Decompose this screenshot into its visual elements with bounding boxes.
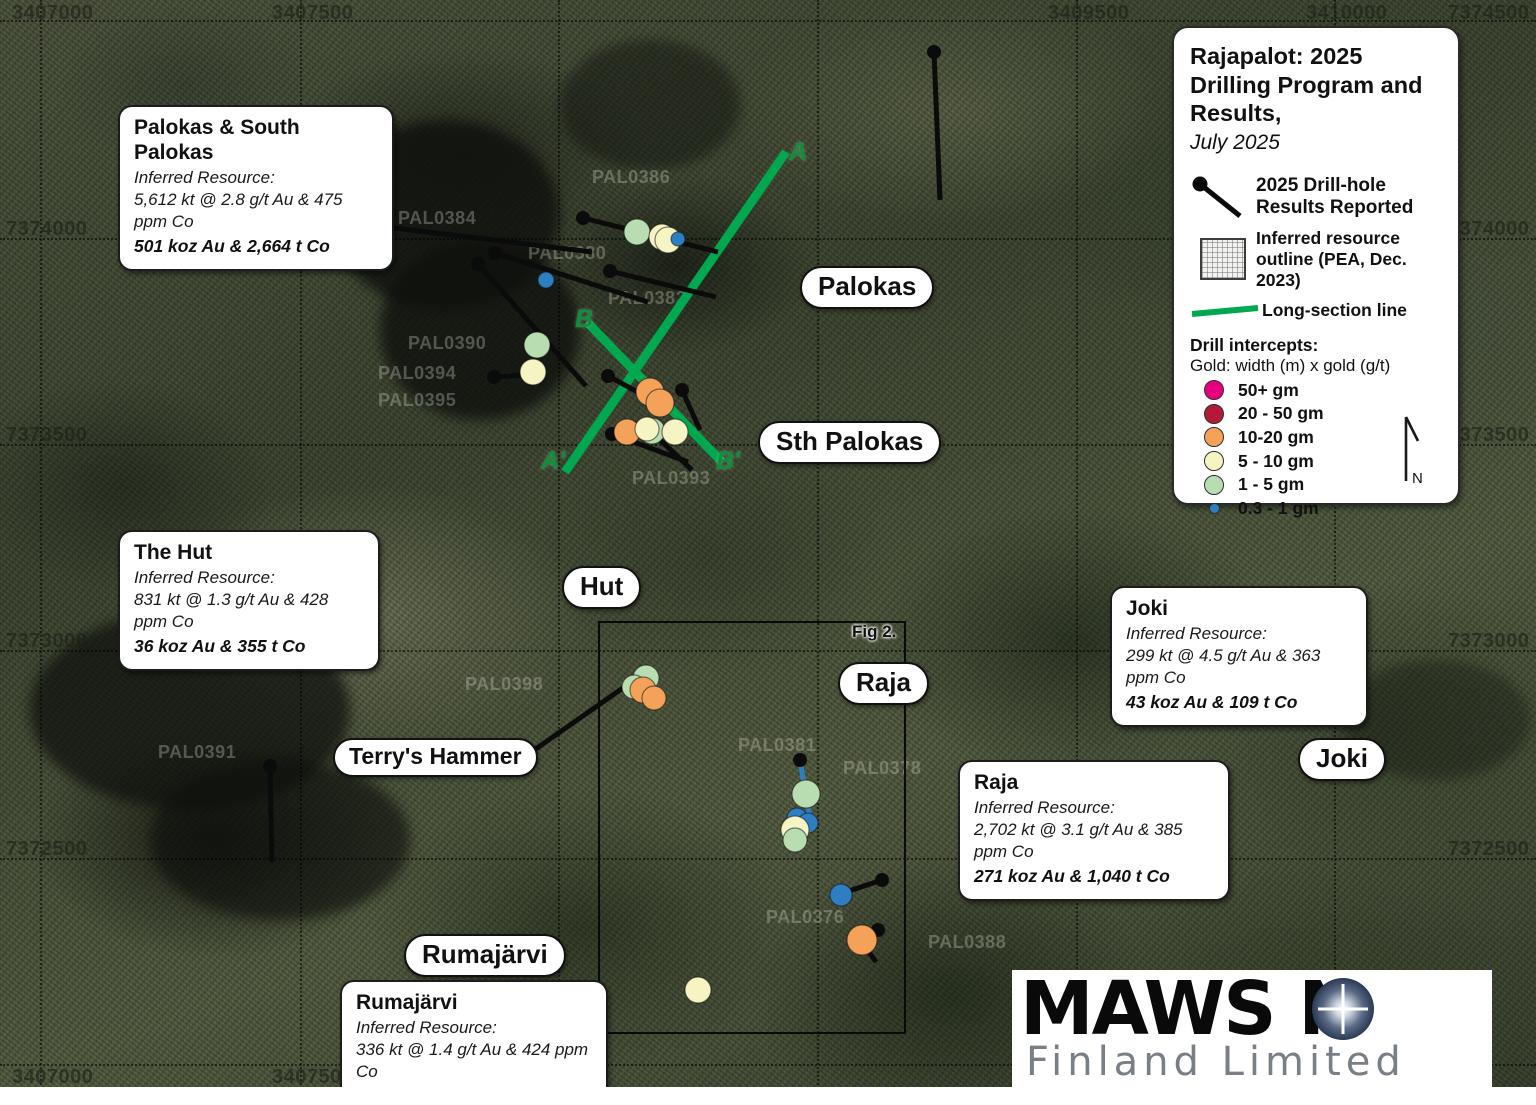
intercept-class-swatch-icon [1204, 427, 1224, 447]
legend-intercepts-heading: Drill intercepts: Gold: width (m) x gold… [1190, 335, 1442, 376]
resource-box-total: 43 koz Au & 109 t Co [1126, 691, 1352, 714]
intercept-class-label: 5 - 10 gm [1238, 451, 1314, 472]
legend-row-drillhole: 2025 Drill-hole Results Reported [1190, 174, 1442, 220]
resource-box-subtitle: Inferred Resource: [134, 567, 364, 589]
resource-box-title: Joki [1126, 597, 1352, 622]
section-label-A-prime: A' [541, 447, 565, 476]
resource-outline-swatch-icon [1190, 238, 1256, 280]
resource-box-title: Palokas & South Palokas [134, 116, 378, 166]
resource-box-grade: 831 kt @ 1.3 g/t Au & 428 ppm Co [134, 589, 364, 633]
north-arrow-label: N [1412, 470, 1423, 487]
drill-intercept-point [671, 232, 685, 246]
resource-box-grade: 5,612 kt @ 2.8 g/t Au & 475 ppm Co [134, 189, 378, 233]
resource-box-total: 271 koz Au & 1,040 t Co [974, 865, 1214, 888]
resource-box-grade: 2,702 kt @ 3.1 g/t Au & 385 ppm Co [974, 819, 1214, 863]
intercepts-subheading-text: Gold: width (m) x gold (g/t) [1190, 356, 1442, 376]
resource-box-subtitle: Inferred Resource: [356, 1017, 592, 1039]
map-label-sth-palokas: Sth Palokas [758, 421, 941, 464]
resource-box-total: 501 koz Au & 2,664 t Co [134, 235, 378, 258]
resource-box-the-hut: The Hut Inferred Resource: 831 kt @ 1.3 … [118, 530, 380, 671]
drill-intercept-point [646, 389, 674, 417]
map-label-terrys-hammer: Terry's Hammer [333, 738, 538, 777]
map-figure: 3407000 3407500 3409500 3410000 3407000 … [0, 0, 1536, 1105]
map-label-rumajarvi: Rumajärvi [404, 934, 566, 977]
legend-title: Rajapalot: 2025 Drilling Program and Res… [1190, 42, 1442, 128]
section-label-B-prime: B' [716, 447, 740, 476]
resource-box-subtitle: Inferred Resource: [974, 797, 1214, 819]
legend-long-section-label: Long-section line [1262, 300, 1407, 321]
drill-intercept-point [538, 272, 554, 288]
resource-box-total: 36 koz Au & 355 t Co [134, 635, 364, 658]
logo-subword: Finland Limited [1026, 1042, 1406, 1082]
drill-intercept-point [662, 419, 688, 445]
intercepts-heading-text: Drill intercepts: [1190, 335, 1442, 356]
fig2-label: Fig 2. [852, 622, 896, 642]
resource-box-joki: Joki Inferred Resource: 299 kt @ 4.5 g/t… [1110, 586, 1368, 727]
drill-intercept-point [635, 417, 659, 441]
intercept-class-label: 1 - 5 gm [1238, 474, 1304, 495]
resource-box-title: Rumajärvi [356, 991, 592, 1016]
resource-box-subtitle: Inferred Resource: [134, 167, 378, 189]
legend-panel: Rajapalot: 2025 Drilling Program and Res… [1172, 26, 1460, 505]
resource-box-grade: 299 kt @ 4.5 g/t Au & 363 ppm Co [1126, 645, 1352, 689]
resource-box-grade: 336 kt @ 1.4 g/t Au & 424 ppm Co [356, 1039, 592, 1083]
mawson-logo: MAWS N Finland Limited [1012, 970, 1492, 1088]
north-arrow-icon: N [1392, 415, 1432, 485]
drill-intercept-point [520, 359, 546, 385]
drill-intercept-point [524, 332, 550, 358]
resource-box-raja: Raja Inferred Resource: 2,702 kt @ 3.1 g… [958, 760, 1230, 901]
intercept-class-label: 10-20 gm [1238, 427, 1314, 448]
intercept-class-swatch-icon [1204, 475, 1224, 495]
resource-box-subtitle: Inferred Resource: [1126, 623, 1352, 645]
intercept-class-label: 20 - 50 gm [1238, 403, 1324, 424]
intercept-class-swatch-icon [1204, 451, 1224, 471]
intercept-class-label: 50+ gm [1238, 380, 1299, 401]
map-label-hut: Hut [562, 566, 641, 609]
logo-wordmark: MAWS N [1020, 972, 1358, 1046]
intercept-class-swatch-icon [1209, 503, 1220, 514]
logo-compass-icon [1312, 978, 1374, 1040]
section-label-B: B [575, 305, 593, 334]
intercept-class-swatch-icon [1204, 404, 1224, 424]
map-label-joki: Joki [1298, 738, 1386, 781]
drill-intercept-point [624, 219, 650, 245]
intercept-class-swatch-icon [1204, 380, 1224, 400]
drillhole-symbol-icon [1190, 174, 1256, 220]
legend-row-resource-outline: Inferred resource outline (PEA, Dec. 202… [1190, 228, 1442, 290]
bottom-white-strip [0, 1087, 1536, 1105]
resource-box-title: Raja [974, 771, 1214, 796]
legend-drillhole-label: 2025 Drill-hole Results Reported [1256, 175, 1426, 220]
intercept-class-row: 50+ gm [1204, 380, 1442, 401]
legend-row-long-section: Long-section line [1190, 300, 1442, 321]
resource-box-palokas-south-palokas: Palokas & South Palokas Inferred Resourc… [118, 105, 394, 271]
legend-resource-outline-label: Inferred resource outline (PEA, Dec. 202… [1256, 228, 1438, 290]
map-label-raja: Raja [838, 662, 929, 705]
long-section-line-icon [1190, 304, 1262, 318]
intercept-class-label: 0.3 - 1 gm [1238, 498, 1319, 519]
map-label-palokas: Palokas [800, 266, 934, 309]
section-label-A: A [789, 138, 807, 167]
resource-box-title: The Hut [134, 541, 364, 566]
intercept-class-row: 0.3 - 1 gm [1204, 498, 1442, 519]
legend-date: July 2025 [1190, 129, 1442, 156]
